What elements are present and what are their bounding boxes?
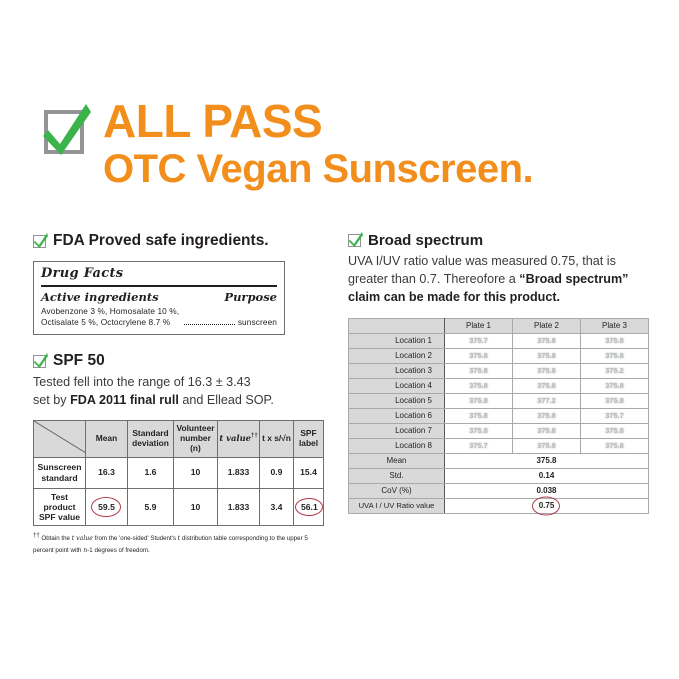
table-row: Location 4375.8375.8375.8	[349, 378, 649, 393]
cell-plate-1: 375.8	[445, 363, 513, 378]
header-plate-1: Plate 1	[445, 318, 513, 333]
cell-t-value: 1.833	[218, 457, 260, 488]
table-header-row: Plate 1 Plate 2 Plate 3	[349, 318, 649, 333]
drug-facts-box: Drug Facts Active ingredients Purpose Av…	[33, 261, 285, 335]
cell-n: 10	[174, 457, 218, 488]
cell-ts: 0.9	[260, 457, 294, 488]
cell-plate-2: 375.8	[513, 348, 581, 363]
table-row: Location 1375.7375.8375.8	[349, 333, 649, 348]
poster-page: ALL PASS OTC Vegan Sunscreen. FDA Proved…	[0, 0, 679, 679]
checkbox-checked-icon	[33, 235, 46, 248]
broad-desc-line1: UVA I/UV ratio value was measured 0.75, …	[348, 254, 616, 268]
cell-t-value: 1.833	[218, 488, 260, 526]
table-header-row: Mean Standard deviation Volunteer number…	[34, 420, 324, 457]
table-row: Location 3375.8375.8375.2	[349, 363, 649, 378]
highlighted-value: 59.5	[92, 500, 121, 514]
corner-cell	[34, 420, 86, 457]
checkbox-checked-icon	[348, 234, 361, 247]
leader-dots	[184, 323, 235, 325]
spf-description: Tested fell into the range of 16.3 ± 3.4…	[33, 374, 323, 410]
broad-spectrum-table: Plate 1 Plate 2 Plate 3 Location 1375.73…	[348, 318, 649, 514]
row-label-location: Location 2	[349, 348, 445, 363]
headline-line-1: ALL PASS	[103, 98, 533, 144]
row-label-location: Location 6	[349, 408, 445, 423]
cell-plate-3: 375.7	[581, 408, 649, 423]
corner-cell	[349, 318, 445, 333]
cell-plate-1: 375.8	[445, 423, 513, 438]
highlighted-value: 0.75	[532, 499, 562, 512]
spf-table-footnote: †† Obtain the t value from the 'one-side…	[33, 531, 323, 556]
spf-desc-line1: Tested fell into the range of 16.3 ± 3.4…	[33, 375, 251, 389]
table-row: Location 8375.7375.8375.8	[349, 438, 649, 453]
drug-facts-header-row: Active ingredients Purpose	[41, 290, 277, 304]
row-label-mean: Mean	[349, 453, 445, 468]
cell-plate-1: 375.8	[445, 378, 513, 393]
left-column: FDA Proved safe ingredients. Drug Facts …	[33, 232, 323, 556]
cell-sd: 1.6	[128, 457, 174, 488]
row-label-location: Location 1	[349, 333, 445, 348]
table-row: Sunscreen standard 16.3 1.6 10 1.833 0.9…	[34, 457, 324, 488]
right-column: Broad spectrum UVA I/UV ratio value was …	[348, 232, 648, 514]
cell-mean-value: 375.8	[445, 453, 649, 468]
summary-row-uva-ratio: UVA I / UV Ratio value0.75	[349, 498, 649, 513]
cell-sd: 5.9	[128, 488, 174, 526]
check-mark-icon	[40, 102, 91, 160]
row-label-std: Std.	[349, 468, 445, 483]
headline-text: ALL PASS OTC Vegan Sunscreen.	[103, 98, 533, 189]
row-label-cov: CoV (%)	[349, 483, 445, 498]
spf-section: SPF 50 Tested fell into the range of 16.…	[33, 352, 323, 556]
header-spf-label: SPF label	[294, 420, 324, 457]
cell-plate-1: 375.8	[445, 408, 513, 423]
row-label-location: Location 8	[349, 438, 445, 453]
checkbox-checked-icon	[33, 355, 46, 368]
cell-n: 10	[174, 488, 218, 526]
cell-plate-2: 377.2	[513, 393, 581, 408]
t-value-label: t value	[219, 433, 251, 443]
header-standard-deviation: Standard deviation	[128, 420, 174, 457]
header-plate-3: Plate 3	[581, 318, 649, 333]
spf-section-heading: SPF 50	[33, 352, 323, 370]
cell-plate-2: 375.8	[513, 363, 581, 378]
ingredients-list: Avobenzone 3 %, Homosalate 10 %, Octisal…	[41, 306, 179, 328]
summary-row-cov: CoV (%)0.038	[349, 483, 649, 498]
cell-plate-3: 375.8	[581, 393, 649, 408]
footnote-marker: ††	[33, 533, 40, 539]
cell-uva-ratio-value: 0.75	[445, 498, 649, 513]
broad-spectrum-heading: Broad spectrum	[348, 232, 648, 249]
footnote-italic1: t value	[72, 536, 93, 543]
cell-plate-3: 375.8	[581, 378, 649, 393]
cell-plate-3: 375.8	[581, 348, 649, 363]
headline-line-2: OTC Vegan Sunscreen.	[103, 149, 533, 189]
cell-plate-3: 375.2	[581, 363, 649, 378]
cell-plate-1: 375.8	[445, 348, 513, 363]
spf-desc-line2-post: and Ellead SOP.	[179, 393, 274, 407]
drug-facts-divider	[41, 285, 277, 287]
fda-section-title: FDA Proved safe ingredients.	[53, 232, 269, 250]
row-label-location: Location 7	[349, 423, 445, 438]
broad-spectrum-table-body: Location 1375.7375.8375.8 Location 2375.…	[349, 333, 649, 513]
highlighted-value: 56.1	[295, 500, 324, 514]
spf-results-table: Mean Standard deviation Volunteer number…	[33, 420, 324, 527]
broad-desc-line2-pre: greater than 0.7. Thereofore a	[348, 272, 519, 286]
footnote-part2: from the 'one-sided' Student's	[93, 536, 178, 543]
footnote-part1: Obtain the	[40, 536, 72, 543]
cell-plate-2: 375.8	[513, 333, 581, 348]
drug-facts-title: Drug Facts	[41, 266, 277, 284]
cell-plate-1: 375.7	[445, 438, 513, 453]
summary-row-std: Std.0.14	[349, 468, 649, 483]
cell-plate-2: 375.8	[513, 378, 581, 393]
header-t-times-s: t x s/√n	[260, 420, 294, 457]
table-row: Location 2375.8375.8375.8	[349, 348, 649, 363]
drug-facts-ingredients-row: Avobenzone 3 %, Homosalate 10 %, Octisal…	[41, 306, 277, 328]
cell-plate-3: 375.8	[581, 438, 649, 453]
purpose-value: sunscreen	[238, 317, 277, 328]
broad-spectrum-title: Broad spectrum	[368, 232, 483, 249]
cell-spf-label: 56.1	[294, 488, 324, 526]
footnote-part4: -1 degrees of freedom.	[87, 547, 150, 554]
cell-plate-3: 375.8	[581, 423, 649, 438]
cell-plate-2: 375.8	[513, 408, 581, 423]
cell-plate-2: 375.8	[513, 423, 581, 438]
diagonal-slash-icon	[34, 421, 86, 453]
header-mean: Mean	[86, 420, 128, 457]
spf-desc-line2-pre: set by	[33, 393, 70, 407]
row-label-location: Location 4	[349, 378, 445, 393]
cell-mean: 59.5	[86, 488, 128, 526]
headline-block: ALL PASS OTC Vegan Sunscreen.	[40, 98, 533, 189]
table-row: Location 6375.8375.8375.7	[349, 408, 649, 423]
cell-mean: 16.3	[86, 457, 128, 488]
header-t-value: t value††	[218, 420, 260, 457]
checkbox-checked-icon	[40, 102, 91, 160]
spf-desc-bold: FDA 2011 final rull	[70, 393, 179, 407]
cell-plate-1: 375.7	[445, 333, 513, 348]
check-mark-icon	[33, 352, 48, 369]
cell-std-value: 0.14	[445, 468, 649, 483]
check-mark-icon	[348, 231, 363, 248]
broad-desc-bold-quote: “Broad spectrum”	[519, 272, 628, 286]
cell-ts: 3.4	[260, 488, 294, 526]
purpose-label: Purpose	[224, 290, 277, 304]
active-ingredients-label: Active ingredients	[41, 290, 159, 304]
spf-section-title: SPF 50	[53, 352, 105, 370]
t-value-superscript: ††	[251, 433, 258, 439]
cell-plate-1: 375.8	[445, 393, 513, 408]
table-row: Test product SPF value 59.5 5.9 10 1.833…	[34, 488, 324, 526]
cell-plate-3: 375.8	[581, 333, 649, 348]
row-label-uva-ratio: UVA I / UV Ratio value	[349, 498, 445, 513]
row-label-location: Location 3	[349, 363, 445, 378]
broad-desc-line3: claim can be made for this product.	[348, 290, 560, 304]
fda-section-heading: FDA Proved safe ingredients.	[33, 232, 323, 250]
summary-row-mean: Mean375.8	[349, 453, 649, 468]
row-label-location: Location 5	[349, 393, 445, 408]
table-row: Location 7375.8375.8375.8	[349, 423, 649, 438]
header-volunteer-number: Volunteer number (n)	[174, 420, 218, 457]
row-label-test-product: Test product SPF value	[34, 488, 86, 526]
header-plate-2: Plate 2	[513, 318, 581, 333]
cell-plate-2: 375.8	[513, 438, 581, 453]
check-mark-icon	[33, 232, 48, 249]
table-row: Location 5375.8377.2375.8	[349, 393, 649, 408]
broad-spectrum-description: UVA I/UV ratio value was measured 0.75, …	[348, 253, 648, 307]
row-label-sunscreen-standard: Sunscreen standard	[34, 457, 86, 488]
cell-spf-label: 15.4	[294, 457, 324, 488]
